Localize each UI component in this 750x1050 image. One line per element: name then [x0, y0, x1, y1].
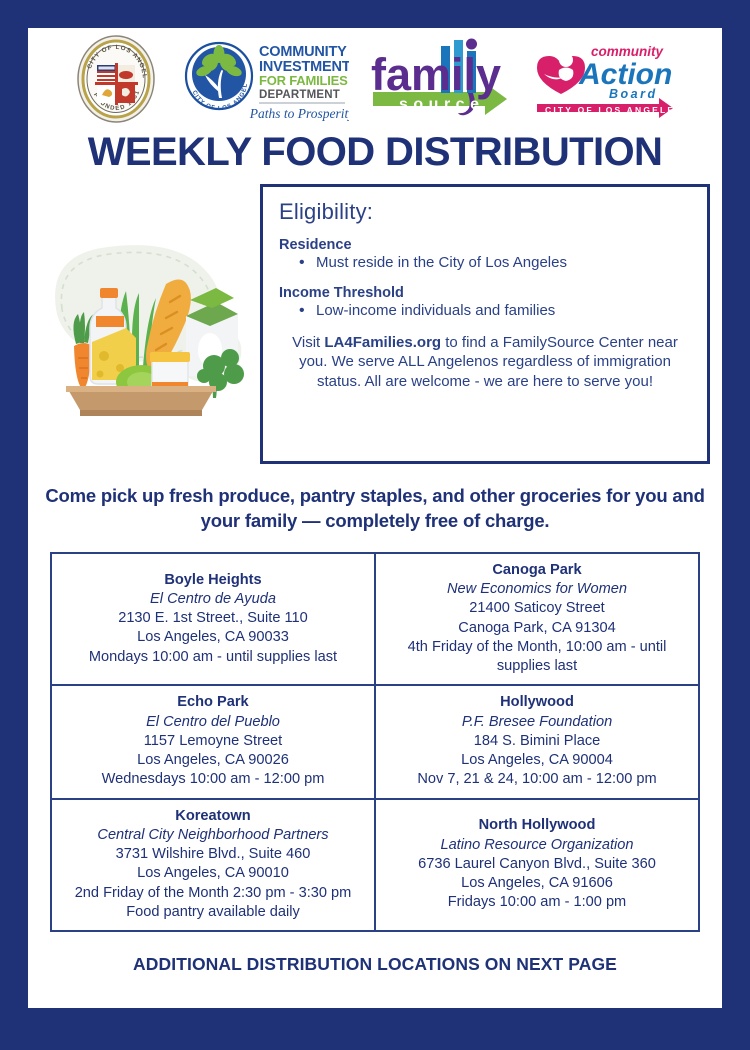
cifd-line1: COMMUNITY: [259, 44, 347, 60]
eligibility-note-pre: Visit: [292, 334, 324, 351]
location-address1: 184 S. Bimini Place: [382, 732, 692, 751]
location-name: Echo Park: [58, 693, 368, 712]
familysource-word-source: source: [399, 96, 484, 113]
city-of-los-angeles-seal: CITY OF LOS ANGELES FOUNDED 1781: [75, 33, 157, 130]
location-org: Latino Resource Organization: [382, 836, 692, 855]
location-cell-hollywood: Hollywood P.F. Bresee Foundation 184 S. …: [375, 685, 699, 798]
eligibility-income-heading: Income Threshold: [279, 285, 691, 301]
location-hours: Fridays 10:00 am - 1:00 pm: [382, 893, 692, 912]
location-name: Canoga Park: [382, 561, 692, 580]
la4families-link[interactable]: LA4Families.org: [324, 334, 441, 351]
community-action-board-logo: community Action Board CITY OF LOS ANGEL…: [535, 34, 675, 129]
table-row: Echo Park El Centro del Pueblo 1157 Lemo…: [51, 685, 699, 798]
familysource-logo: family source: [369, 34, 515, 129]
location-address1: 3731 Wilshire Blvd., Suite 460: [58, 845, 368, 864]
location-org: Central City Neighborhood Partners: [58, 826, 368, 845]
location-address2: Los Angeles, CA 91606: [382, 874, 692, 893]
location-address1: 2130 E. 1st Street., Suite 110: [58, 609, 368, 628]
location-org: New Economics for Women: [382, 580, 692, 599]
eligibility-box: Eligibility: Residence Must reside in th…: [260, 184, 710, 464]
eligibility-residence-bullet: Must reside in the City of Los Angeles: [299, 254, 691, 273]
location-org: El Centro del Pueblo: [58, 713, 368, 732]
location-cell-canoga-park: Canoga Park New Economics for Women 2140…: [375, 553, 699, 686]
eligibility-residence-heading: Residence: [279, 237, 691, 253]
location-name: Hollywood: [382, 693, 692, 712]
cab-banner: CITY OF LOS ANGELES: [545, 105, 675, 115]
grocery-box-illustration: [28, 184, 260, 419]
footer-note: ADDITIONAL DISTRIBUTION LOCATIONS ON NEX…: [133, 954, 617, 975]
location-address2: Canoga Park, CA 91304: [382, 619, 692, 638]
location-name: North Hollywood: [382, 816, 692, 835]
cab-line3: Board: [609, 87, 658, 101]
familysource-word-family: family: [371, 49, 501, 100]
page-title: WEEKLY FOOD DISTRIBUTION: [88, 132, 663, 172]
location-extra: Food pantry available daily: [58, 903, 368, 922]
location-address1: 21400 Saticoy Street: [382, 599, 692, 618]
table-row: Koreatown Central City Neighborhood Part…: [51, 799, 699, 932]
location-address2: Los Angeles, CA 90026: [58, 751, 368, 770]
location-hours: Wednesdays 10:00 am - 12:00 pm: [58, 770, 368, 789]
logo-bar: CITY OF LOS ANGELES FOUNDED 1781: [28, 28, 722, 128]
location-address2: Los Angeles, CA 90004: [382, 751, 692, 770]
location-address2: Los Angeles, CA 90010: [58, 864, 368, 883]
location-cell-boyle-heights: Boyle Heights El Centro de Ayuda 2130 E.…: [51, 553, 375, 686]
location-cell-koreatown: Koreatown Central City Neighborhood Part…: [51, 799, 375, 932]
middle-section: Eligibility: Residence Must reside in th…: [28, 184, 722, 470]
community-investment-for-families-department-logo: CITY OF LOS ANGELES COMMUNITY INVESTMENT…: [177, 32, 349, 131]
flyer-inner-page: CITY OF LOS ANGELES FOUNDED 1781: [28, 28, 722, 1008]
location-hours: Nov 7, 21 & 24, 10:00 am - 12:00 pm: [382, 770, 692, 789]
tagline: Come pick up fresh produce, pantry stapl…: [45, 484, 705, 534]
location-address1: 1157 Lemoyne Street: [58, 732, 368, 751]
eligibility-note: Visit LA4Families.org to find a FamilySo…: [279, 333, 691, 392]
location-address1: 6736 Laurel Canyon Blvd., Suite 360: [382, 855, 692, 874]
table-row: Boyle Heights El Centro de Ayuda 2130 E.…: [51, 553, 699, 686]
cifd-line3: FOR FAMILIES: [259, 73, 348, 88]
cifd-line4: DEPARTMENT: [259, 89, 340, 101]
location-org: P.F. Bresee Foundation: [382, 713, 692, 732]
eligibility-income-bullet: Low-income individuals and families: [299, 302, 691, 321]
cab-line1: community: [591, 44, 665, 59]
flyer-page: CITY OF LOS ANGELES FOUNDED 1781: [0, 0, 750, 1050]
location-hours: 4th Friday of the Month, 10:00 am - unti…: [382, 638, 692, 677]
location-name: Boyle Heights: [58, 571, 368, 590]
cifd-tagline: Paths to Prosperity: [249, 106, 349, 121]
location-hours: 2nd Friday of the Month 2:30 pm - 3:30 p…: [58, 884, 368, 903]
location-hours: Mondays 10:00 am - until supplies last: [58, 648, 368, 667]
locations-table: Boyle Heights El Centro de Ayuda 2130 E.…: [50, 552, 700, 932]
location-org: El Centro de Ayuda: [58, 590, 368, 609]
location-cell-north-hollywood: North Hollywood Latino Resource Organiza…: [375, 799, 699, 932]
eligibility-heading: Eligibility:: [279, 199, 691, 225]
location-address2: Los Angeles, CA 90033: [58, 628, 368, 647]
location-cell-echo-park: Echo Park El Centro del Pueblo 1157 Lemo…: [51, 685, 375, 798]
location-name: Koreatown: [58, 807, 368, 826]
